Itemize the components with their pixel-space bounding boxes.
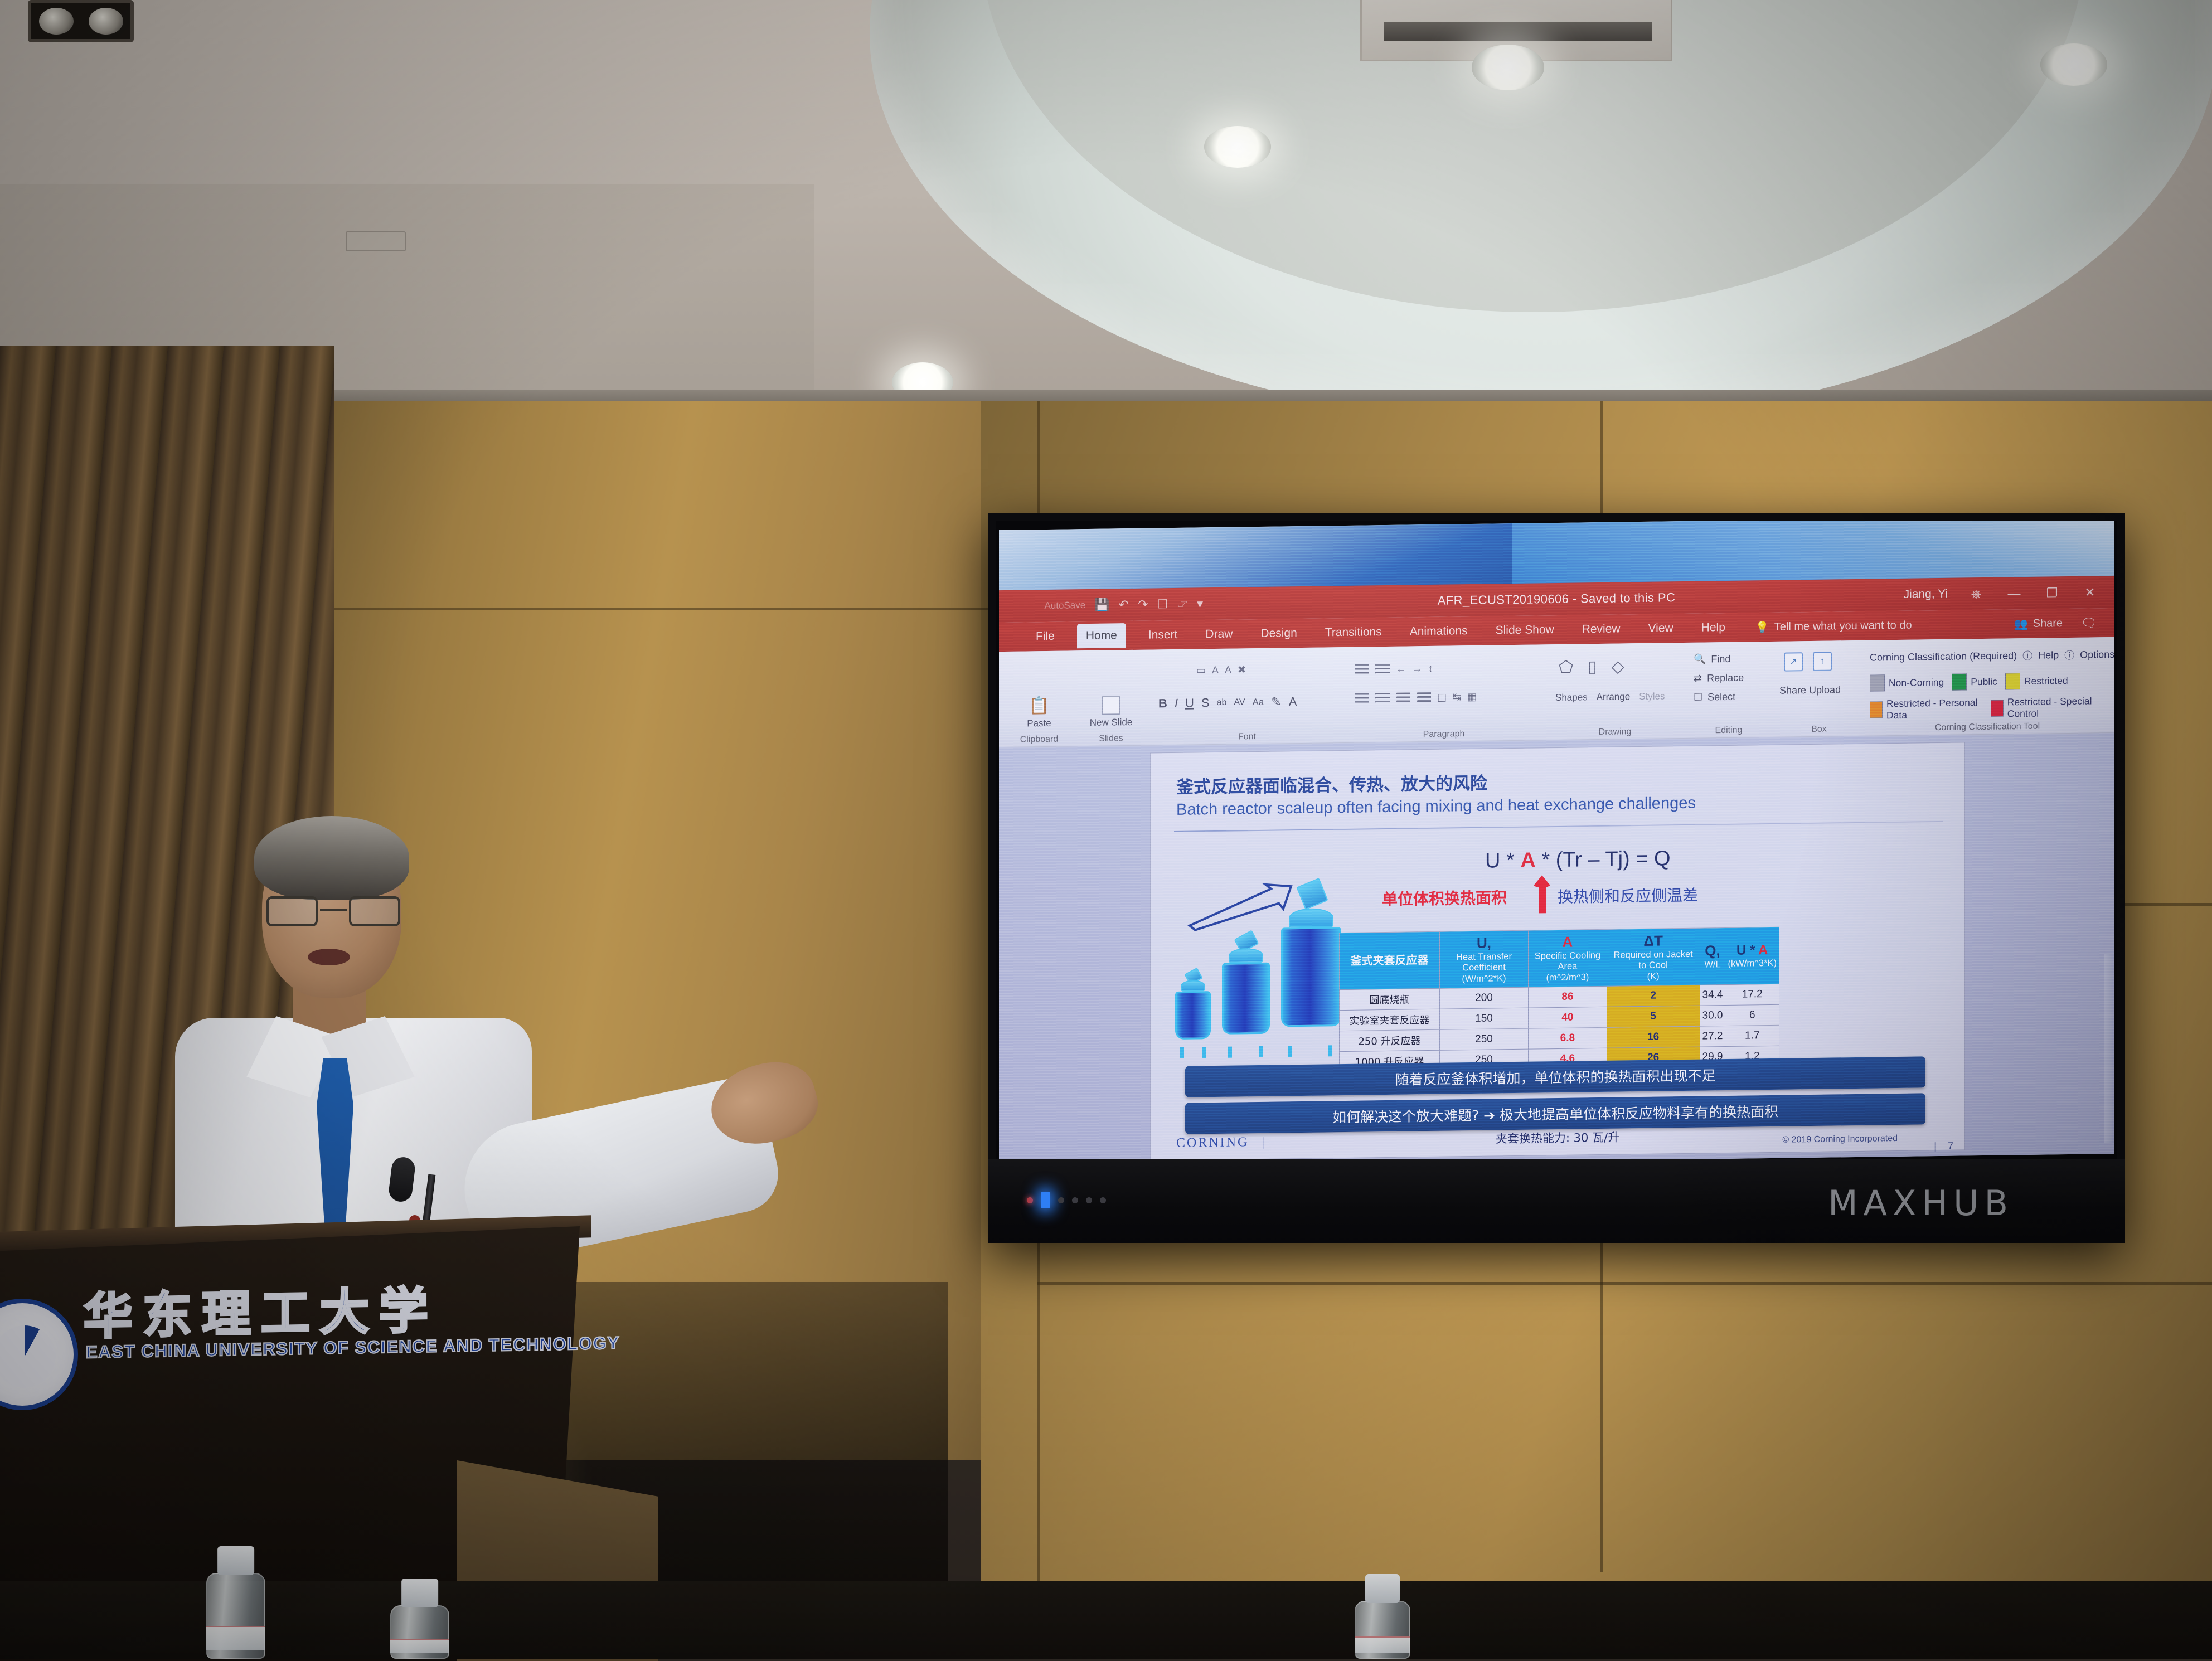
hair — [254, 816, 409, 900]
podium-name-chinese: 华东理工大学 — [84, 1271, 438, 1348]
mouth — [308, 949, 350, 965]
panel-seam — [312, 608, 1037, 610]
foreground-table — [0, 1581, 2212, 1659]
panel-seam — [1037, 1282, 2212, 1285]
bottle-body — [390, 1605, 449, 1659]
bottle-cap — [401, 1579, 438, 1607]
bottle-body — [206, 1573, 265, 1659]
display-status-leds — [1027, 1192, 1106, 1208]
lecture-hall-scene: Paste AutoSave 💾 ↶ ↷ ☐ ☞ ▾ AFR_ECUST2019… — [0, 0, 2212, 1659]
spotlight — [39, 8, 74, 35]
bottle-cap — [1365, 1574, 1400, 1603]
status-led — [1041, 1192, 1050, 1208]
display-bezel — [988, 513, 2125, 1243]
downlight — [1472, 45, 1544, 90]
downlight — [2040, 43, 2107, 86]
water-bottle — [1355, 1601, 1410, 1659]
power-led — [1027, 1197, 1033, 1203]
ceiling-speaker-grille — [346, 231, 406, 251]
display-chin: MAXHUB — [988, 1159, 2125, 1243]
water-bottle — [390, 1605, 449, 1659]
maxhub-display: Paste AutoSave 💾 ↶ ↷ ☐ ☞ ▾ AFR_ECUST2019… — [988, 513, 2125, 1243]
bottle-label — [1355, 1636, 1410, 1653]
spotlight-housing — [28, 0, 134, 42]
water-bottle — [206, 1573, 265, 1659]
eyeglasses — [266, 896, 400, 926]
ir-sensor — [1100, 1197, 1106, 1203]
bottle-body — [1355, 1601, 1410, 1659]
bottle-label — [206, 1626, 265, 1650]
spotlight — [89, 8, 123, 35]
ir-sensor — [1072, 1197, 1078, 1203]
maxhub-brand-label: MAXHUB — [1828, 1183, 2014, 1223]
bottle-label — [390, 1639, 449, 1654]
ir-sensor — [1058, 1197, 1064, 1203]
bottle-cap — [217, 1546, 254, 1575]
downlight — [1204, 126, 1271, 168]
ir-sensor — [1086, 1197, 1092, 1203]
